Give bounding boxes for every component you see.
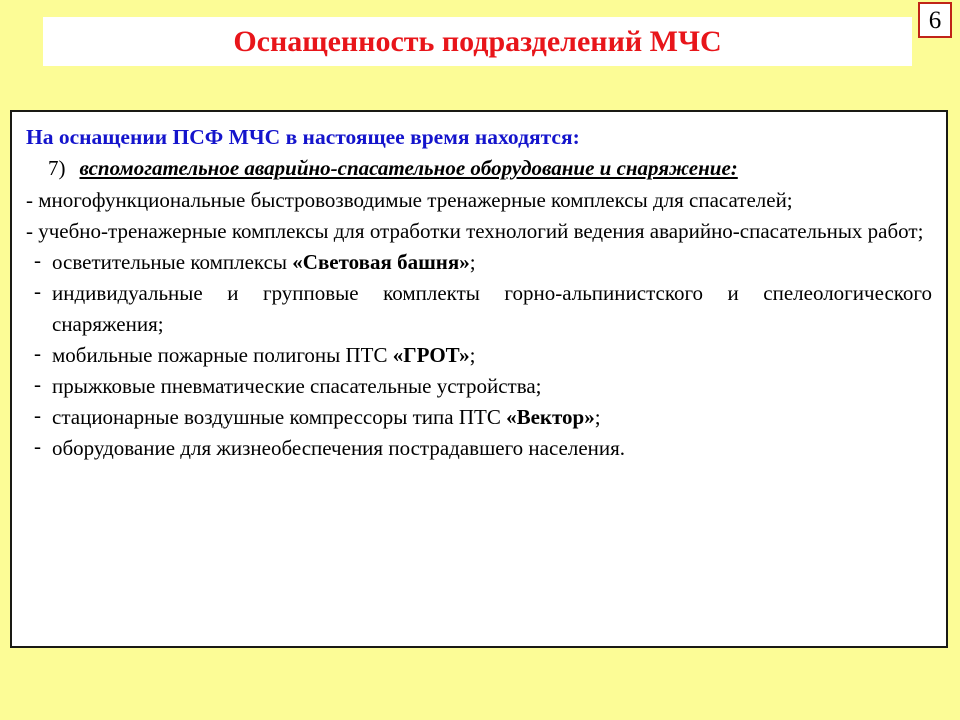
list-item-prefix: мобильные пожарные полигоны ПТС <box>52 343 393 367</box>
dash-bullet-icon: - <box>26 278 52 304</box>
dash-bullet-icon: - <box>26 371 52 397</box>
list-item: - мобильные пожарные полигоны ПТС «ГРОТ»… <box>26 340 932 371</box>
dash-item: - многофункциональные быстровозводимые т… <box>26 185 932 216</box>
lead-heading: На оснащении ПСФ МЧС в настоящее время н… <box>26 122 932 152</box>
list-item-text: стационарные воздушные компрессоры типа … <box>52 402 932 433</box>
numbered-item-text: вспомогательное аварийно-спасательное об… <box>80 156 738 180</box>
list-item-emphasis: «Вектор» <box>506 405 595 429</box>
list-item-suffix: ; <box>470 250 476 274</box>
list-item-emphasis: «ГРОТ» <box>393 343 470 367</box>
list-item-suffix: ; <box>595 405 601 429</box>
list-item-prefix: осветительные комплексы <box>52 250 292 274</box>
page-title: Оснащенность подразделений МЧС <box>233 25 721 59</box>
list-item-text: прыжковые пневматические спасательные ус… <box>52 371 932 402</box>
dash-bullet-icon: - <box>26 402 52 428</box>
list-item-prefix: оборудование для жизнеобеспечения постра… <box>52 436 625 460</box>
content-box: На оснащении ПСФ МЧС в настоящее время н… <box>10 110 948 648</box>
page-number-value: 6 <box>929 8 942 33</box>
list-item-text: оборудование для жизнеобеспечения постра… <box>52 433 932 464</box>
list-item: - осветительные комплексы «Световая башн… <box>26 247 932 278</box>
numbered-item: 7)вспомогательное аварийно-спасательное … <box>26 153 932 184</box>
list-item: - стационарные воздушные компрессоры тип… <box>26 402 932 433</box>
list-item: - оборудование для жизнеобеспечения пост… <box>26 433 932 464</box>
list-item: - прыжковые пневматические спасательные … <box>26 371 932 402</box>
dash-item: - учебно-тренажерные комплексы для отраб… <box>26 216 932 247</box>
list-item-prefix: индивидуальные и групповые комплекты гор… <box>52 281 932 336</box>
numbered-item-number: 7) <box>26 156 80 180</box>
list-item-text: осветительные комплексы «Световая башня»… <box>52 247 932 278</box>
dash-bullet-icon: - <box>26 340 52 366</box>
list-item: - индивидуальные и групповые комплекты г… <box>26 278 932 340</box>
list-item-emphasis: «Световая башня» <box>292 250 470 274</box>
page-number-badge: 6 <box>918 2 952 38</box>
title-banner: Оснащенность подразделений МЧС <box>43 17 912 66</box>
dash-bullet-icon: - <box>26 247 52 273</box>
list-item-prefix: стационарные воздушные компрессоры типа … <box>52 405 506 429</box>
list-item-suffix: ; <box>470 343 476 367</box>
dash-bullet-icon: - <box>26 433 52 459</box>
list-item-text: мобильные пожарные полигоны ПТС «ГРОТ»; <box>52 340 932 371</box>
list-item-prefix: прыжковые пневматические спасательные ус… <box>52 374 542 398</box>
list-item-text: индивидуальные и групповые комплекты гор… <box>52 278 932 340</box>
